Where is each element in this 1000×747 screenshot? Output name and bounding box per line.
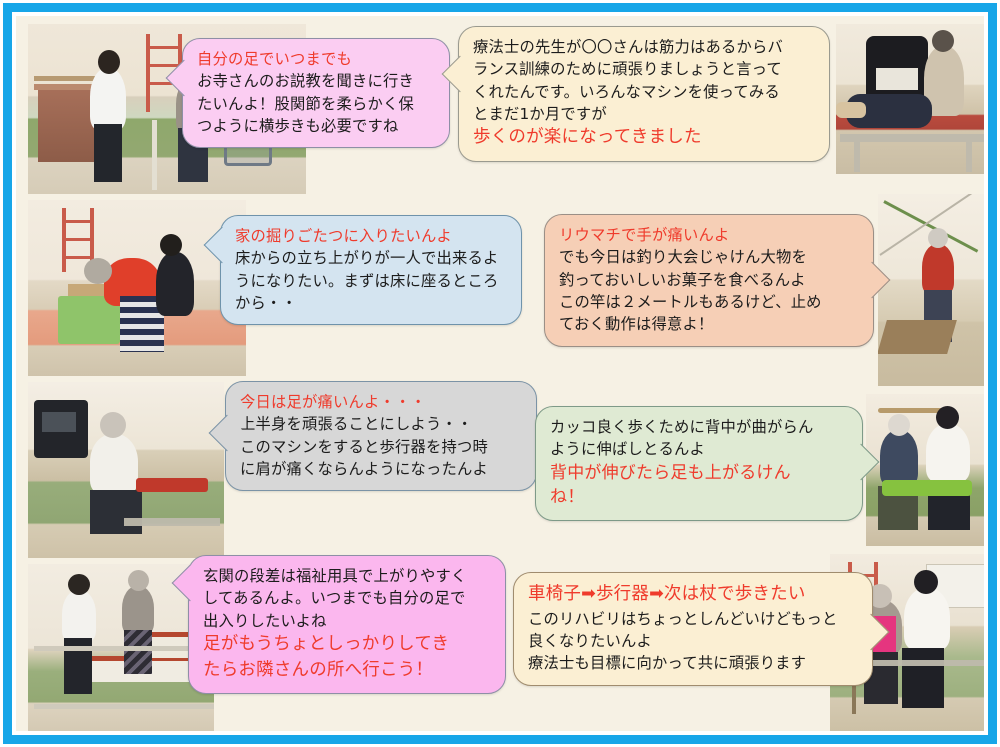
bubble-1-line-3: たいんよ！股関節を柔らかく保 — [197, 93, 436, 115]
bubble-5-line-3: このマシンをすると歩行器を持つ時 — [240, 436, 523, 458]
speech-bubble-2: 療法士の先生が〇〇さんは筋力はあるからバ ランス訓練のために頑張りましょうと言っ… — [458, 26, 830, 162]
bubble-5-line-2: 上半身を頑張ることにしよう・・ — [240, 413, 523, 435]
bubble-2-line-3: くれたんです。いろんなマシンを使ってみる — [473, 81, 816, 103]
bubble-7-line-1: 玄関の段差は福祉用具で上がりやすく — [203, 565, 492, 587]
bubble-2-line-5: 歩くのが楽になってきました — [473, 125, 816, 151]
photo-4 — [878, 194, 984, 386]
bubble-7-line-4: 足がもうちょとしっかりしてき — [203, 632, 492, 658]
bubble-4-line-2: でも今日は釣り大会じゃけん大物を — [559, 246, 860, 268]
bubble-3-line-1: 家の掘りごたつに入りたいんよ — [235, 225, 508, 247]
bubble-3-line-3: うになりたい。まずは床に座るところ — [235, 270, 508, 292]
bubble-8-line-4: 療法士も目標に向かって共に頑張ります — [528, 652, 859, 674]
bubble-1-line-4: つように横歩きも必要ですね — [197, 115, 436, 137]
bubble-4-line-4: この竿は２メートルもあるけど、止め — [559, 291, 860, 313]
speech-bubble-6: カッコ良く歩くために背中が曲がらん ように伸ばしとるんよ 背中が伸びたら足も上が… — [535, 406, 863, 521]
bubble-7-line-2: してあるんよ。いつまでも自分の足で — [203, 587, 492, 609]
bubble-3-line-2: 床からの立ち上がりが一人で出来るよ — [235, 247, 508, 269]
poster-canvas: 自分の足でいつまでも お寺さんのお説教を聞きに行き たいんよ！股関節を柔らかく保… — [16, 16, 984, 731]
speech-bubble-7: 玄関の段差は福祉用具で上がりやすく してあるんよ。いつまでも自分の足で 出入りし… — [188, 555, 506, 694]
speech-bubble-3: 家の掘りごたつに入りたいんよ 床からの立ち上がりが一人で出来るよ うになりたい。… — [220, 215, 522, 325]
photo-6 — [866, 394, 984, 546]
bubble-1-line-1: 自分の足でいつまでも — [197, 48, 436, 70]
speech-bubble-4: リウマチで手が痛いんよ でも今日は釣り大会じゃけん大物を 釣っておいしいお菓子を… — [544, 214, 874, 347]
speech-bubble-1: 自分の足でいつまでも お寺さんのお説教を聞きに行き たいんよ！股関節を柔らかく保… — [182, 38, 450, 148]
bubble-6-line-2: ように伸ばしとるんよ — [550, 438, 849, 460]
bubble-8-line-2: このリハビリはちょっとしんどいけどもっと — [528, 608, 859, 630]
bubble-4-line-3: 釣っておいしいお菓子を食べるんよ — [559, 269, 860, 291]
photo-2 — [836, 24, 984, 174]
photo-3 — [28, 200, 246, 376]
bubble-8-line-1: 車椅子➡歩行器➡次は杖で歩きたい — [528, 582, 859, 608]
photo-5 — [28, 382, 224, 558]
poster-frame: 自分の足でいつまでも お寺さんのお説教を聞きに行き たいんよ！股関節を柔らかく保… — [3, 3, 997, 744]
bubble-6-line-4: ね！ — [550, 485, 849, 510]
speech-bubble-5: 今日は足が痛いんよ・・・ 上半身を頑張ることにしよう・・ このマシンをすると歩行… — [225, 381, 537, 491]
bubble-7-line-5: たらお隣さんの所へ行こう！ — [203, 658, 492, 684]
bubble-6-line-3: 背中が伸びたら足も上がるけん — [550, 461, 849, 486]
speech-bubble-8: 車椅子➡歩行器➡次は杖で歩きたい このリハビリはちょっとしんどいけどもっと 良く… — [513, 572, 873, 686]
bubble-3-line-4: から・・ — [235, 292, 508, 314]
bubble-6-line-1: カッコ良く歩くために背中が曲がらん — [550, 416, 849, 438]
bubble-5-line-4: に肩が痛くならんようになったんよ — [240, 458, 523, 480]
bubble-7-line-3: 出入りしたいよね — [203, 610, 492, 632]
bubble-2-line-4: とまだ1か月ですが — [473, 103, 816, 125]
bubble-5-line-1: 今日は足が痛いんよ・・・ — [240, 391, 523, 413]
bubble-4-line-1: リウマチで手が痛いんよ — [559, 224, 860, 246]
bubble-2-line-2: ランス訓練のために頑張りましょうと言って — [473, 58, 816, 80]
bubble-2-line-1: 療法士の先生が〇〇さんは筋力はあるからバ — [473, 36, 816, 58]
bubble-4-line-5: ておく動作は得意よ！ — [559, 313, 860, 335]
bubble-8-line-3: 良くなりたいんよ — [528, 630, 859, 652]
bubble-1-line-2: お寺さんのお説教を聞きに行き — [197, 70, 436, 92]
poster-root: 自分の足でいつまでも お寺さんのお説教を聞きに行き たいんよ！股関節を柔らかく保… — [0, 0, 1000, 747]
